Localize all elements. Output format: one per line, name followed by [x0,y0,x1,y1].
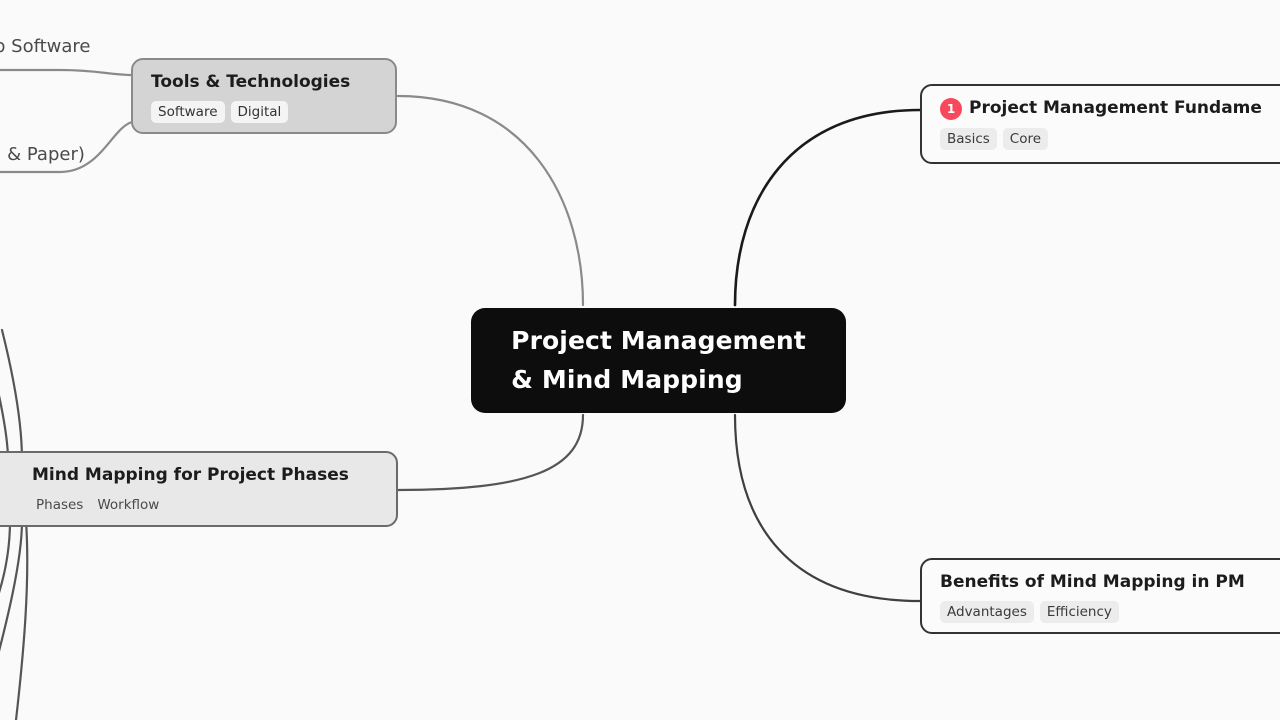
edge-phases-to-child-4 [0,521,10,640]
tag-chip[interactable]: Digital [231,101,289,123]
tag-chip[interactable]: Workflow [93,494,163,516]
node-root-project-management-and-mind-mapping[interactable]: Project Management & Mind Mapping [471,308,846,413]
edge-root-to-tools [398,96,583,305]
edge-phases-to-child-1 [0,332,8,460]
tag-chip[interactable]: Efficiency [1040,601,1119,623]
edge-phases-to-child-5 [16,521,27,720]
node-title: Benefits of Mind Mapping in PM [940,572,1280,593]
node-tags: Advantages Efficiency [940,601,1280,623]
edge-tools-to-software [0,70,132,75]
order-badge: 1 [940,98,962,120]
edge-root-to-benefits [735,415,920,601]
tag-chip[interactable]: Phases [32,494,87,516]
edge-phases-to-child-3 [0,521,22,700]
tag-chip[interactable]: Basics [940,128,997,150]
edge-root-to-fundamentals [735,110,920,305]
node-project-management-fundamentals[interactable]: 1 Project Management Fundame Basics Core [920,84,1280,164]
node-title: Mind Mapping for Project Phases [2,465,378,486]
tag-chip[interactable]: Advantages [940,601,1034,623]
node-mind-mapping-for-project-phases[interactable]: Mind Mapping for Project Phases Phases W… [0,451,398,527]
node-title-text: Project Management Fundame [969,98,1262,119]
node-tools-and-technologies[interactable]: Tools & Technologies Software Digital [131,58,397,134]
edge-root-to-phases [398,415,583,490]
node-title-text: Benefits of Mind Mapping in PM [940,572,1245,593]
node-tags: Software Digital [151,101,377,123]
leaf-label-software[interactable]: p Software [0,36,91,58]
node-title: Tools & Technologies [151,72,377,93]
node-benefits-of-mind-mapping-in-pm[interactable]: Benefits of Mind Mapping in PM Advantage… [920,558,1280,634]
node-title: 1 Project Management Fundame [940,98,1280,120]
node-title-text: Tools & Technologies [151,72,350,93]
node-tags: Phases Workflow [2,494,378,516]
node-title-text: Mind Mapping for Project Phases [32,465,349,486]
node-tags: Basics Core [940,128,1280,150]
leaf-label-pen-and-paper[interactable]: n & Paper) [0,144,85,166]
tag-chip[interactable]: Core [1003,128,1048,150]
mindmap-canvas[interactable]: p Software n & Paper) Tools & Technologi… [0,0,1280,720]
root-title: Project Management & Mind Mapping [511,322,806,400]
edge-phases-to-child-2 [2,330,22,460]
tag-chip[interactable]: Software [151,101,225,123]
